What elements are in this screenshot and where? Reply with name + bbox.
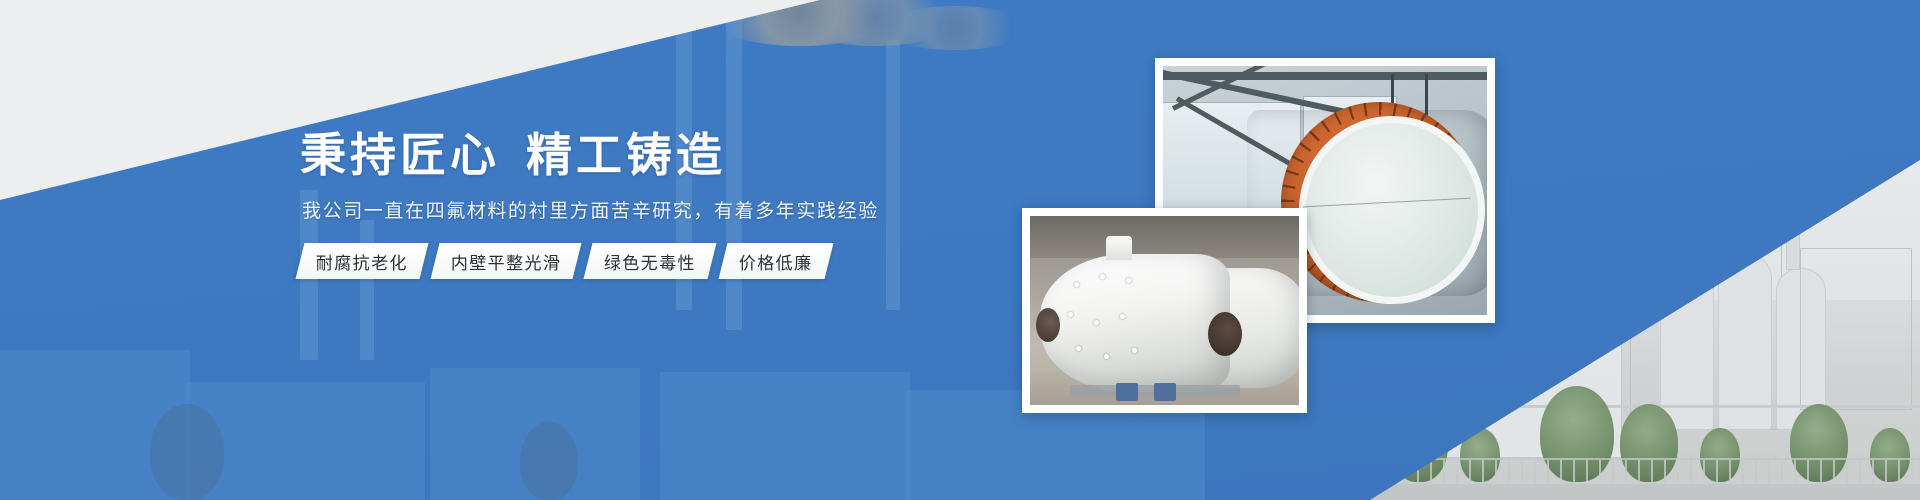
- tank-side-manhole: [1208, 312, 1242, 356]
- tank-stud: [1076, 346, 1081, 351]
- tank-support-foot: [1154, 383, 1176, 401]
- tank-front-section: [1040, 254, 1230, 392]
- headline-part-1: 秉持匠心: [300, 129, 500, 181]
- tank-stud: [1074, 282, 1079, 287]
- feature-tag-label: 内壁平整光滑: [451, 249, 561, 274]
- hero-banner: 秉持匠心精工铸造 我公司一直在四氟材料的衬里方面苦辛研究，有着多年实践经验 耐腐…: [0, 0, 1920, 500]
- feature-tag-anti-corrosion[interactable]: 耐腐抗老化: [296, 243, 429, 279]
- feature-tag-non-toxic[interactable]: 绿色无毒性: [584, 243, 717, 279]
- blue-overlay-building: [660, 372, 910, 500]
- feature-tag-label: 价格低廉: [739, 249, 813, 274]
- headline-part-2: 精工铸造: [526, 129, 726, 181]
- tank-support-foot: [1116, 383, 1138, 401]
- tank-stud: [1126, 278, 1131, 283]
- photo-inner-frame: [1030, 216, 1299, 405]
- blue-overlay-tree: [520, 422, 578, 500]
- reactor-ptfe-lining-face: [1299, 116, 1485, 304]
- smokestack-smoke: [880, 6, 1030, 50]
- tank-top-nozzle: [1106, 236, 1132, 260]
- tank-front-manhole: [1036, 308, 1060, 342]
- feature-tag-label: 绿色无毒性: [604, 249, 696, 274]
- feature-tag-smooth-wall[interactable]: 内壁平整光滑: [431, 243, 582, 279]
- feature-tag-low-price[interactable]: 价格低廉: [719, 243, 834, 279]
- tank-stud: [1120, 314, 1125, 319]
- white-lined-tank-photo[interactable]: [1022, 208, 1307, 413]
- shed-roof: [1030, 216, 1299, 258]
- feature-tag-label: 耐腐抗老化: [316, 249, 408, 274]
- blue-overlay-tree: [150, 404, 224, 500]
- tank-stud: [1094, 320, 1099, 325]
- tank-stud: [1100, 274, 1105, 279]
- tank-stud: [1104, 354, 1109, 359]
- background-truss: [1800, 248, 1912, 410]
- banner-text-block: 秉持匠心精工铸造 我公司一直在四氟材料的衬里方面苦辛研究，有着多年实践经验 耐腐…: [300, 128, 920, 279]
- workshop-ceiling-beam: [1163, 72, 1487, 80]
- feature-tag-list: 耐腐抗老化 内壁平整光滑 绿色无毒性 价格低廉: [300, 243, 920, 279]
- banner-subtitle: 我公司一直在四氟材料的衬里方面苦辛研究，有着多年实践经验: [302, 196, 920, 223]
- page-title: 秉持匠心精工铸造: [300, 128, 920, 182]
- tank-stud: [1068, 312, 1073, 317]
- tank-stud: [1132, 348, 1137, 353]
